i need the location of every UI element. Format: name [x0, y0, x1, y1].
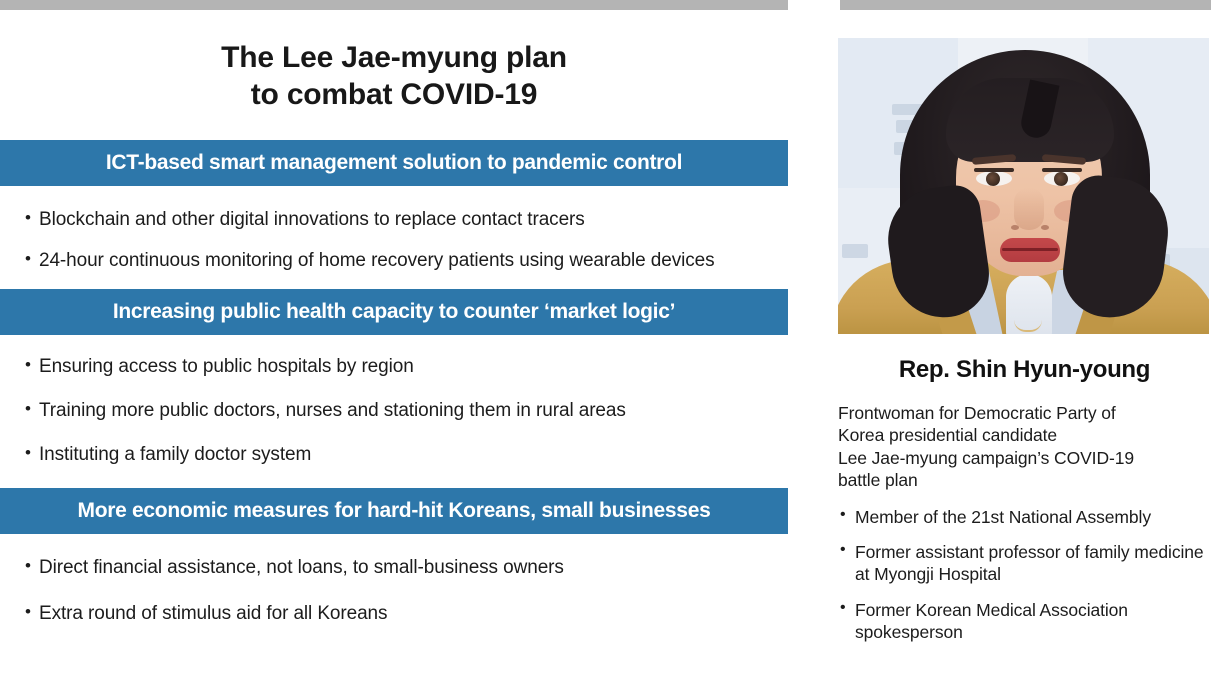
list-item: Extra round of stimulus aid for all Kore…	[19, 602, 788, 626]
eyelid-right-shape	[1042, 168, 1082, 172]
lip-line-shape	[1002, 248, 1058, 251]
list-item: Former Korean Medical Association spokes…	[838, 599, 1211, 644]
backdrop-text-block	[842, 244, 868, 258]
list-item: Instituting a family doctor system	[19, 443, 788, 467]
section-economic: More economic measures for hard-hit Kore…	[0, 488, 788, 627]
section-heading-ict: ICT-based smart management solution to p…	[0, 140, 788, 186]
top-rule-right	[840, 0, 1211, 10]
headline-line-1: The Lee Jae-myung plan	[0, 40, 788, 77]
list-item: Ensuring access to public hospitals by r…	[19, 355, 788, 379]
profile-bio: Frontwoman for Democratic Party of Korea…	[838, 402, 1211, 492]
top-rule-left	[0, 0, 788, 10]
section-public-health: Increasing public health capacity to cou…	[0, 289, 788, 468]
list-item: Former assistant professor of family med…	[838, 541, 1211, 586]
profile-bullets: Member of the 21st National Assembly For…	[838, 506, 1211, 644]
iris-right-shape	[1054, 172, 1068, 186]
right-column: Rep. Shin Hyun-young Frontwoman for Demo…	[838, 38, 1211, 657]
bio-line: Frontwoman for Democratic Party of	[838, 402, 1211, 424]
list-item: 24-hour continuous monitoring of home re…	[19, 249, 788, 273]
list-item: Direct financial assistance, not loans, …	[19, 556, 788, 580]
list-item: Training more public doctors, nurses and…	[19, 399, 788, 423]
eye-right-shape	[1044, 171, 1080, 186]
section-heading-economic: More economic measures for hard-hit Kore…	[0, 488, 788, 534]
bio-line: Lee Jae-myung campaign’s COVID-19	[838, 447, 1211, 469]
profile-name: Rep. Shin Hyun-young	[838, 356, 1211, 384]
list-item: Blockchain and other digital innovations…	[19, 208, 788, 232]
left-column: The Lee Jae-myung plan to combat COVID-1…	[0, 10, 788, 682]
eye-left-shape	[976, 171, 1012, 186]
nose-shape	[1014, 188, 1044, 230]
bio-line: battle plan	[838, 469, 1211, 491]
section-bullets-economic: Direct financial assistance, not loans, …	[0, 534, 788, 627]
iris-left-shape	[986, 172, 1000, 186]
section-heading-public-health: Increasing public health capacity to cou…	[0, 289, 788, 335]
section-ict: ICT-based smart management solution to p…	[0, 140, 788, 273]
nostril-left-shape	[1011, 225, 1019, 230]
page-title: The Lee Jae-myung plan to combat COVID-1…	[0, 10, 788, 113]
bio-line: Korea presidential candidate	[838, 424, 1211, 446]
headline-line-2: to combat COVID-19	[0, 77, 788, 114]
section-bullets-ict: Blockchain and other digital innovations…	[0, 186, 788, 273]
section-bullets-public-health: Ensuring access to public hospitals by r…	[0, 335, 788, 468]
portrait-photo	[838, 38, 1209, 334]
eyelid-left-shape	[974, 168, 1014, 172]
nostril-right-shape	[1041, 225, 1049, 230]
list-item: Member of the 21st National Assembly	[838, 506, 1211, 528]
